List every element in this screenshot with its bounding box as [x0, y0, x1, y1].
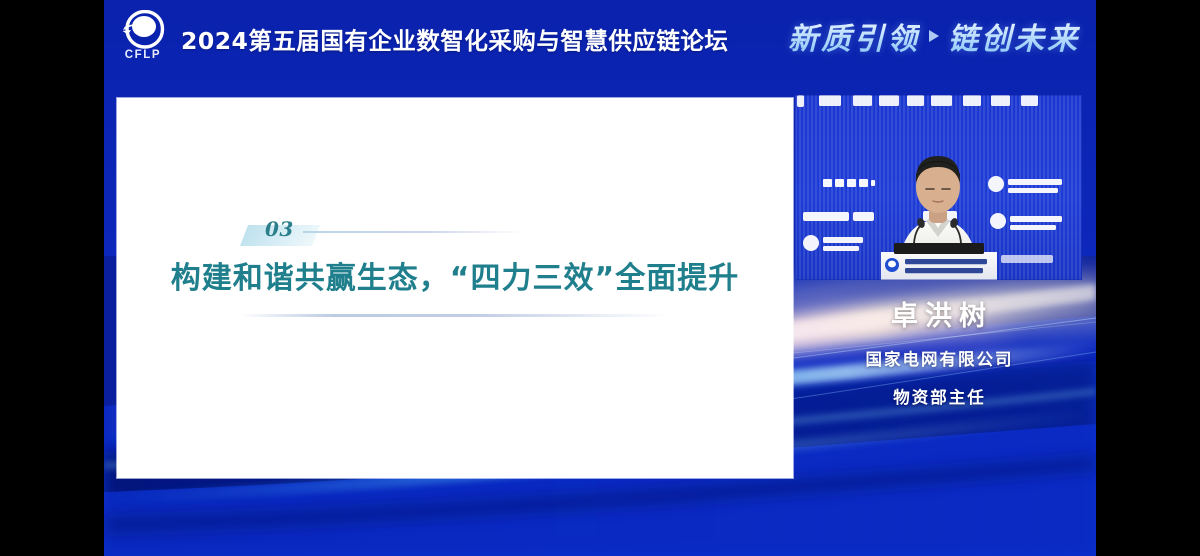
- presentation-slide: 03 构建和谐共赢生态，“四力三效”全面提升: [117, 98, 793, 478]
- speaker-name: 卓洪树: [795, 294, 1082, 333]
- speaker-role: 物资部主任: [795, 384, 1082, 408]
- livestream-screen: CFLP 2024第五届国有企业数智化采购与智慧供应链论坛 新质引领 链创未来 …: [0, 0, 1200, 556]
- header-brand: CFLP 2024第五届国有企业数智化采购与智慧供应链论坛: [118, 10, 728, 68]
- section-divider-line: [303, 231, 525, 233]
- cflp-wordmark: CFLP: [118, 49, 168, 61]
- section-number: 03: [265, 217, 294, 241]
- letterbox-left: [0, 0, 104, 556]
- slogan-right-text: 链创未来: [948, 14, 1080, 58]
- speaker-video-feed[interactable]: [795, 95, 1082, 280]
- forum-title: 2024第五届国有企业数智化采购与智慧供应链论坛: [181, 22, 728, 56]
- letterbox-right: [1096, 0, 1200, 556]
- slide-heading: 构建和谐共赢生态，“四力三效”全面提升: [117, 253, 793, 297]
- broadcast-frame: CFLP 2024第五届国有企业数智化采购与智慧供应链论坛 新质引领 链创未来 …: [104, 0, 1096, 556]
- section-badge-row: [244, 222, 664, 248]
- header-slogan: 新质引领 链创未来: [788, 14, 1080, 58]
- slide-heading-underline: [239, 314, 671, 317]
- cflp-swoosh-icon: [121, 10, 165, 50]
- slogan-left-text: 新质引领: [788, 14, 920, 58]
- cflp-logo: CFLP: [118, 10, 168, 68]
- play-triangle-icon: [929, 30, 939, 42]
- header-bar: CFLP 2024第五届国有企业数智化采购与智慧供应链论坛 新质引领 链创未来: [104, 0, 1096, 92]
- speaker-organization: 国家电网有限公司: [795, 346, 1082, 370]
- speaker-nameplate: 卓洪树 国家电网有限公司 物资部主任: [795, 286, 1082, 421]
